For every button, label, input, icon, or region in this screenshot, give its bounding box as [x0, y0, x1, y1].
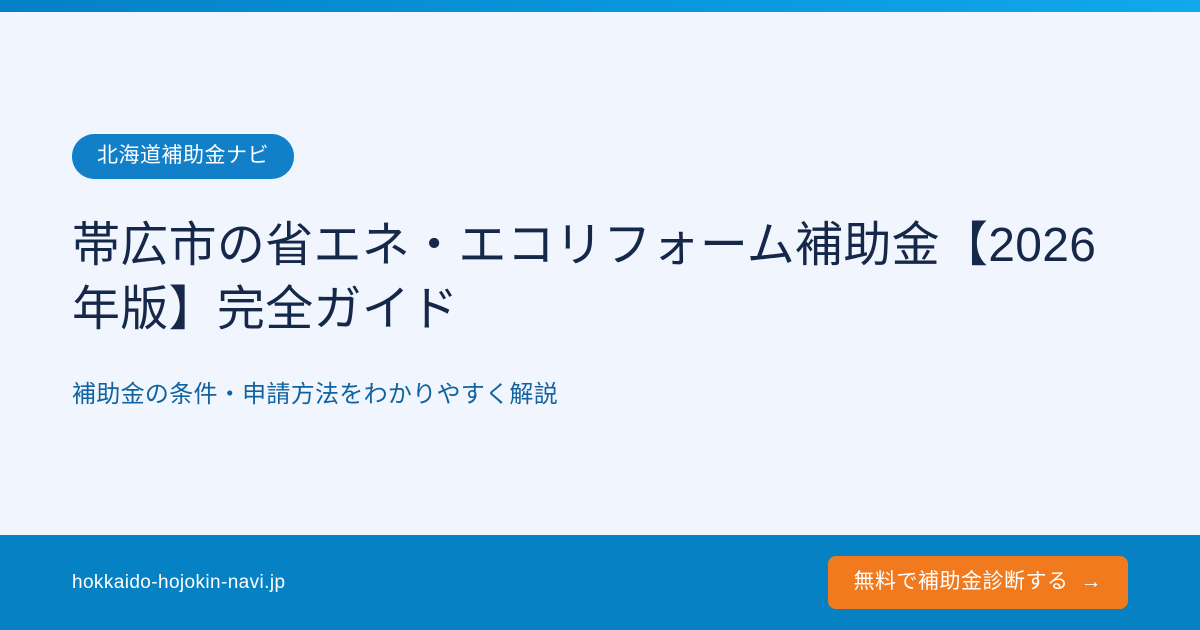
free-diagnosis-cta-button[interactable]: 無料で補助金診断する →	[828, 556, 1129, 609]
site-badge: 北海道補助金ナビ	[72, 134, 294, 179]
top-accent-bar	[0, 0, 1200, 12]
card-footer: hokkaido-hojokin-navi.jp 無料で補助金診断する →	[0, 535, 1200, 630]
card-content: 北海道補助金ナビ 帯広市の省エネ・エコリフォーム補助金【2026年版】完全ガイド…	[0, 12, 1200, 535]
cta-label: 無料で補助金診断する	[854, 571, 1069, 592]
og-share-card: 北海道補助金ナビ 帯広市の省エネ・エコリフォーム補助金【2026年版】完全ガイド…	[0, 0, 1200, 630]
page-subtitle: 補助金の条件・申請方法をわかりやすく解説	[72, 377, 1128, 413]
site-domain-label: hokkaido-hojokin-navi.jp	[72, 573, 285, 592]
page-title: 帯広市の省エネ・エコリフォーム補助金【2026年版】完全ガイド	[72, 214, 1128, 342]
arrow-right-icon: →	[1081, 571, 1103, 592]
